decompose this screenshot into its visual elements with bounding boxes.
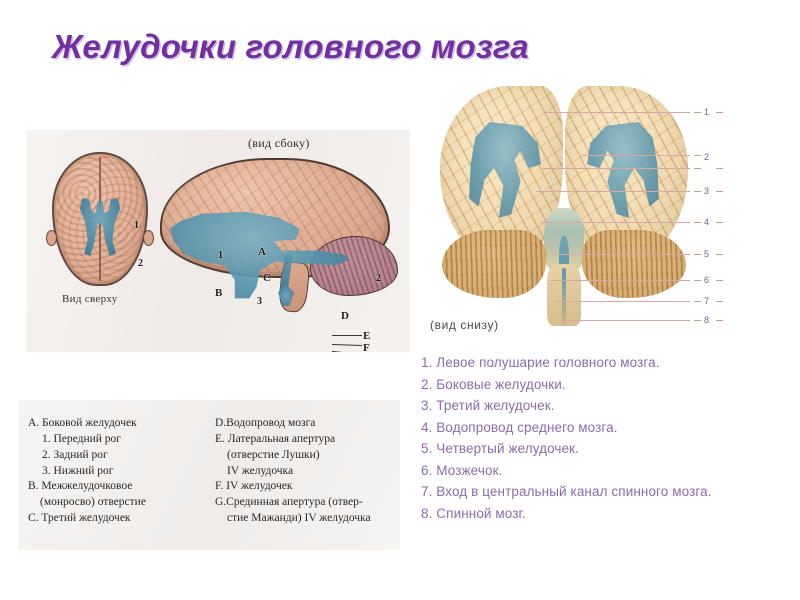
caption-superior-view: Вид сверху <box>62 293 118 305</box>
legend-entry: A. Боковой желудочек <box>28 416 203 432</box>
leader-dash-2-end <box>716 168 723 169</box>
figure-inferior-view: 1 2 3 4 5 6 7 8 <box>432 78 732 330</box>
spinal-cord-medulla <box>547 264 581 326</box>
legend-entry: (отверстие Лушки) <box>215 448 390 464</box>
leader-dash-6 <box>694 280 701 281</box>
leader-line-8 <box>562 320 690 321</box>
list-item: 8. Спинной мозг. <box>421 503 791 525</box>
leader-dash-7-end <box>716 301 723 302</box>
legend-entry: F. IV желудочек <box>215 479 390 495</box>
cerebellum-right <box>582 230 686 298</box>
leader-number-3: 3 <box>704 186 709 196</box>
leader-number-1: 1 <box>704 107 709 117</box>
leader-line-3 <box>536 191 690 192</box>
leader-number-4: 4 <box>704 217 709 227</box>
leader-number-7: 7 <box>704 296 709 306</box>
leader-line-e <box>332 335 362 336</box>
caption-lateral-view: (вид сбоку) <box>248 136 310 151</box>
leader-dash-1 <box>694 112 701 113</box>
brain-inferior-view-illustration <box>440 86 688 324</box>
leader-dash-4-end <box>716 222 723 223</box>
figure-lateral-and-superior-views: 1 2 Вид сверху (вид сбоку) 1 A C B 3 2 D… <box>26 130 410 352</box>
legend-entry: 1. Передний рог <box>28 432 203 448</box>
leader-line-2b <box>542 168 690 169</box>
figure-marker-inferior-horn: 3 <box>257 296 262 307</box>
caption-inferior-view: (вид снизу) <box>430 318 499 332</box>
leader-line-1 <box>544 112 690 113</box>
legend-entry: B. Межжелудочковое <box>28 479 203 495</box>
figure-letter-d: D <box>341 310 349 322</box>
leader-number-5: 5 <box>704 249 709 259</box>
leader-line-5 <box>552 254 690 255</box>
leader-dash-6-end <box>716 280 723 281</box>
leader-line-2a <box>582 155 690 156</box>
brain-lateral-view-illustration <box>160 158 398 308</box>
leader-line-6 <box>550 280 690 281</box>
list-item: 2. Боковые желудочки. <box>421 374 791 396</box>
list-item: 5. Четвертый желудочек. <box>421 438 791 460</box>
list-item: 3. Третий желудочек. <box>421 395 791 417</box>
legend-entry: 3. Нижний рог <box>28 464 203 480</box>
leader-line-7 <box>556 301 690 302</box>
figure-marker-anterior-horn: 1 <box>218 250 223 261</box>
leader-dash-3-end <box>716 191 723 192</box>
legend-key-panel: A. Боковой желудочек 1. Передний рог 2. … <box>18 400 400 550</box>
leader-dash-2a <box>694 155 701 156</box>
leader-dash-3 <box>694 191 701 192</box>
figure-letter-e: E <box>363 330 370 342</box>
leader-dash-4 <box>694 222 701 223</box>
leader-line-4 <box>540 222 690 223</box>
brain-superior-view-illustration <box>52 152 148 286</box>
figure-letter-f: F <box>363 342 370 352</box>
leader-dash-1-end <box>716 112 723 113</box>
cerebellum-left <box>442 230 546 298</box>
list-item: 7. Вход в центральный канал спинного моз… <box>421 481 791 503</box>
legend-entry: (монросво) отверстие <box>28 495 203 511</box>
legend-entry: IV желудочка <box>215 464 390 480</box>
legend-column-right: D.Водопровод мозга E. Латеральная аперту… <box>215 416 390 550</box>
list-item: 6. Мозжечок. <box>421 460 791 482</box>
legend-entry: G.Срединная апертура (отвер- <box>215 495 390 511</box>
leader-dash-7 <box>694 301 701 302</box>
temporal-pole-left <box>46 230 57 246</box>
temporal-pole-right <box>143 230 154 246</box>
figure-marker-posterior-horn: 2 <box>376 273 381 284</box>
cerebellum-shape <box>310 236 398 296</box>
legend-entry: 2. Задний рог <box>28 448 203 464</box>
legend-entry: стие Мажанди) IV желудочка <box>215 511 390 527</box>
leader-number-6: 6 <box>704 275 709 285</box>
legend-column-left: A. Боковой желудочек 1. Передний рог 2. … <box>28 416 203 550</box>
figure-marker-2: 2 <box>138 258 143 269</box>
figure-marker-1: 1 <box>134 220 139 231</box>
leader-dash-5 <box>694 254 701 255</box>
legend-entry: D.Водопровод мозга <box>215 416 390 432</box>
figure-letter-a: A <box>258 246 266 258</box>
legend-entry: E. Латеральная апертура <box>215 432 390 448</box>
figure-letter-b: B <box>215 287 222 299</box>
list-item: 1. Левое полушарие головного мозга. <box>421 352 791 374</box>
leader-number-8: 8 <box>704 315 709 325</box>
list-item: 4. Водопровод среднего мозга. <box>421 417 791 439</box>
legend-entry: C. Третий желудочек <box>28 511 203 527</box>
leader-dash-2b <box>694 168 701 169</box>
page-title: Желудочки головного мозга <box>52 28 752 66</box>
leader-number-2: 2 <box>704 152 709 162</box>
leader-dash-8 <box>694 320 701 321</box>
leader-dash-8-end <box>716 320 723 321</box>
structure-list: 1. Левое полушарие головного мозга. 2. Б… <box>421 352 791 524</box>
figure-letter-c: C <box>263 272 271 284</box>
leader-dash-5-end <box>716 254 723 255</box>
